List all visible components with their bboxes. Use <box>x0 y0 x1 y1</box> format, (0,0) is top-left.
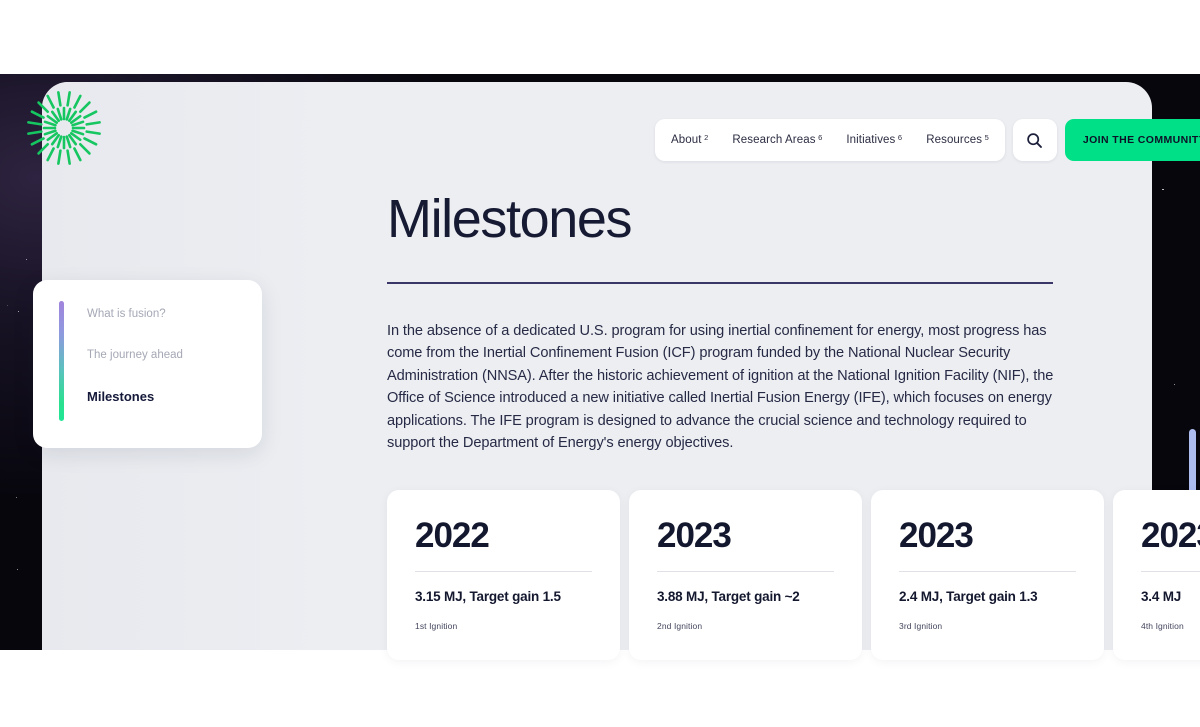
sidebar-item-label: Milestones <box>87 389 154 405</box>
section-nav-list: What is fusion? The journey ahead Milest… <box>87 294 250 417</box>
screenshot-root: About2 Research Areas6 Initiatives6 Reso… <box>0 0 1200 727</box>
milestone-rule <box>415 571 592 572</box>
milestone-label: 2nd Ignition <box>657 621 834 631</box>
nav-item-research-areas[interactable]: Research Areas6 <box>732 134 822 146</box>
milestone-year: 2023 <box>899 518 1076 553</box>
nav-item-label: Research Areas <box>732 134 815 146</box>
join-button-label: JOIN THE COMMUNITY <box>1083 134 1200 146</box>
sidebar-item-label: The journey ahead <box>87 349 183 363</box>
join-the-community-button[interactable]: JOIN THE COMMUNITY <box>1065 119 1200 161</box>
milestone-rule <box>899 571 1076 572</box>
starburst-logo[interactable] <box>24 88 104 168</box>
nav-item-about[interactable]: About2 <box>671 134 708 146</box>
top-navigation: About2 Research Areas6 Initiatives6 Reso… <box>655 119 1200 161</box>
milestone-value: 3.15 MJ, Target gain 1.5 <box>415 589 592 604</box>
nav-item-label: About <box>671 134 702 146</box>
search-button[interactable] <box>1013 119 1057 161</box>
milestone-year: 2023 <box>657 518 834 553</box>
sidebar-item-the-journey-ahead[interactable]: The journey ahead <box>87 335 250 376</box>
nav-item-count: 6 <box>898 134 902 142</box>
milestone-value: 2.4 MJ, Target gain 1.3 <box>899 589 1076 604</box>
milestone-card[interactable]: 2022 3.15 MJ, Target gain 1.5 1st Igniti… <box>387 490 620 660</box>
nav-item-count: 2 <box>704 134 708 142</box>
gradient-progress-bar <box>59 301 64 421</box>
browser-chrome-bottom <box>0 650 1200 727</box>
nav-pill: About2 Research Areas6 Initiatives6 Reso… <box>655 119 1005 161</box>
section-nav-card: What is fusion? The journey ahead Milest… <box>33 280 262 448</box>
nav-item-count: 6 <box>818 134 822 142</box>
milestone-label: 4th Ignition <box>1141 621 1200 631</box>
milestone-value: 3.88 MJ, Target gain ~2 <box>657 589 834 604</box>
intro-paragraph: In the absence of a dedicated U.S. progr… <box>387 320 1057 454</box>
sidebar-item-label: What is fusion? <box>87 308 166 322</box>
search-icon <box>1026 132 1043 149</box>
milestone-rule <box>1141 571 1200 572</box>
nav-item-label: Initiatives <box>846 134 895 146</box>
milestone-card[interactable]: 2023 3.4 MJ 4th Ignition <box>1113 490 1200 660</box>
page-title: Milestones <box>387 192 631 246</box>
milestone-cards-row: 2022 3.15 MJ, Target gain 1.5 1st Igniti… <box>387 490 1200 660</box>
milestone-year: 2022 <box>415 518 592 553</box>
nav-item-initiatives[interactable]: Initiatives6 <box>846 134 902 146</box>
title-divider <box>387 282 1053 284</box>
milestone-rule <box>657 571 834 572</box>
milestone-card[interactable]: 2023 2.4 MJ, Target gain 1.3 3rd Ignitio… <box>871 490 1104 660</box>
milestone-label: 3rd Ignition <box>899 621 1076 631</box>
milestone-label: 1st Ignition <box>415 621 592 631</box>
milestone-year: 2023 <box>1141 518 1200 553</box>
sidebar-item-milestones[interactable]: Milestones <box>87 376 250 417</box>
sidebar-item-what-is-fusion[interactable]: What is fusion? <box>87 294 250 335</box>
milestone-card[interactable]: 2023 3.88 MJ, Target gain ~2 2nd Ignitio… <box>629 490 862 660</box>
nav-item-resources[interactable]: Resources5 <box>926 134 989 146</box>
milestone-value: 3.4 MJ <box>1141 589 1200 604</box>
browser-chrome-top <box>0 0 1200 74</box>
nav-item-count: 5 <box>985 134 989 142</box>
nav-item-label: Resources <box>926 134 982 146</box>
